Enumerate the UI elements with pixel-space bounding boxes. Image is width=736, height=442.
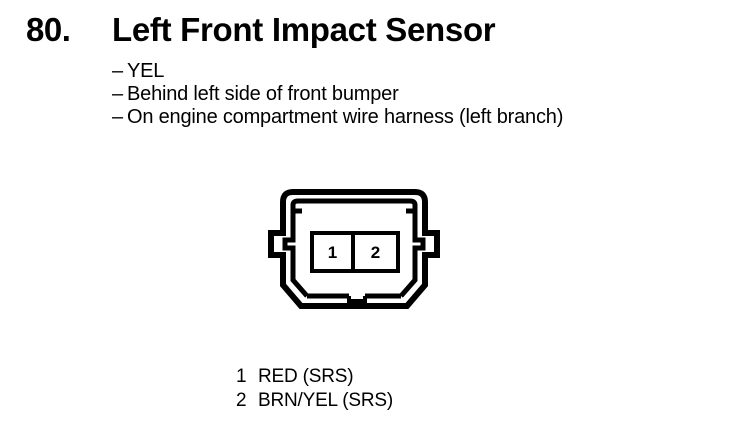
document-page: 80. Left Front Impact Sensor – YEL – Beh… bbox=[0, 0, 736, 442]
legend-wire-label: RED (SRS) bbox=[258, 365, 353, 389]
heading-item-number: 80. bbox=[26, 10, 70, 50]
pin-cavity-1: 1 bbox=[314, 235, 355, 269]
page-title: Left Front Impact Sensor bbox=[112, 10, 495, 50]
list-item-label: On engine compartment wire harness (left… bbox=[127, 106, 563, 129]
dash-icon: – bbox=[112, 60, 127, 83]
legend-row: 1 RED (SRS) bbox=[236, 365, 556, 389]
legend-row: 2 BRN/YEL (SRS) bbox=[236, 389, 556, 413]
pin-cavity-group: 1 2 bbox=[310, 231, 400, 273]
legend-pin-number: 2 bbox=[236, 389, 258, 413]
list-item-label: Behind left side of front bumper bbox=[127, 83, 399, 106]
pin-cavity-2: 2 bbox=[355, 235, 396, 269]
pin-number-label: 2 bbox=[371, 244, 380, 261]
pin-legend: 1 RED (SRS) 2 BRN/YEL (SRS) bbox=[236, 365, 556, 413]
dash-icon: – bbox=[112, 106, 127, 129]
list-item: – Behind left side of front bumper bbox=[112, 83, 712, 106]
legend-wire-label: BRN/YEL (SRS) bbox=[258, 389, 393, 413]
dash-icon: – bbox=[112, 83, 127, 106]
legend-pin-number: 1 bbox=[236, 365, 258, 389]
pin-number-label: 1 bbox=[328, 244, 337, 261]
list-item-label: YEL bbox=[127, 60, 164, 83]
specification-list: – YEL – Behind left side of front bumper… bbox=[112, 60, 712, 129]
list-item: – On engine compartment wire harness (le… bbox=[112, 106, 712, 129]
page-heading: 80. Left Front Impact Sensor bbox=[26, 10, 646, 50]
list-item: – YEL bbox=[112, 60, 712, 83]
connector-diagram: 1 2 bbox=[255, 180, 460, 340]
